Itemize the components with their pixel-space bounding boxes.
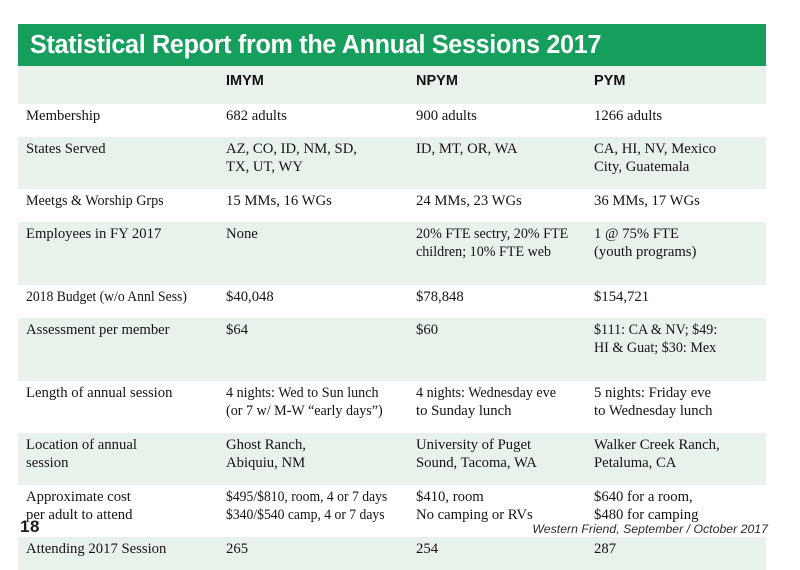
cell-imym: $40,048 [218, 285, 408, 318]
row-label: Approximate cost per adult to attend [18, 485, 218, 537]
row-label: Membership [18, 104, 218, 137]
row-label: States Served [18, 137, 218, 189]
cell-pym: 1 @ 75% FTE (youth programs) [586, 222, 766, 285]
column-header-npym: NPYM [408, 66, 586, 104]
cell-imym: AZ, CO, ID, NM, SD, TX, UT, WY [218, 137, 408, 189]
cell-imym: $495/$810, room, 4 or 7 days $340/$540 c… [218, 485, 408, 537]
column-header-blank [18, 66, 218, 104]
table-row: Assessment per member $64 $60 $111: CA &… [18, 318, 766, 381]
report-title-banner: Statistical Report from the Annual Sessi… [18, 24, 766, 66]
cell-imym: 682 adults [218, 104, 408, 137]
cell-npym: $60 [408, 318, 586, 381]
page-number: 18 [20, 517, 40, 537]
cell-pym: 1266 adults [586, 104, 766, 137]
table-row: Employees in FY 2017 None 20% FTE sectry… [18, 222, 766, 285]
publication-credit: Western Friend, September / October 2017 [532, 522, 768, 536]
cell-imym: $64 [218, 318, 408, 381]
cell-npym: 20% FTE sectry, 20% FTE children; 10% FT… [408, 222, 586, 285]
cell-npym: 24 MMs, 23 WGs [408, 189, 586, 222]
cell-pym: CA, HI, NV, Mexico City, Guatemala [586, 137, 766, 189]
row-label: Location of annual session [18, 433, 218, 485]
cell-pym: 5 nights: Friday eve to Wednesday lunch [586, 381, 766, 433]
row-label: Employees in FY 2017 [18, 222, 218, 285]
cell-pym: $111: CA & NV; $49: HI & Guat; $30: Mex [586, 318, 766, 381]
row-label: 2018 Budget (w/o Annl Sess) [18, 285, 218, 318]
row-label: Length of annual session [18, 381, 218, 433]
cell-pym: Walker Creek Ranch, Petaluma, CA [586, 433, 766, 485]
cell-imym: None [218, 222, 408, 285]
cell-npym: 4 nights: Wednesday eve to Sunday lunch [408, 381, 586, 433]
page-title: Statistical Report from the Annual Sessi… [30, 31, 601, 60]
row-label: Assessment per member [18, 318, 218, 381]
cell-pym: $154,721 [586, 285, 766, 318]
table-row: Length of annual session 4 nights: Wed t… [18, 381, 766, 433]
table-row: Meetgs & Worship Grps 15 MMs, 16 WGs 24 … [18, 189, 766, 222]
table-row: Membership 682 adults 900 adults 1266 ad… [18, 104, 766, 137]
cell-imym: 15 MMs, 16 WGs [218, 189, 408, 222]
cell-npym: 900 adults [408, 104, 586, 137]
cell-pym: 36 MMs, 17 WGs [586, 189, 766, 222]
cell-npym: ID, MT, OR, WA [408, 137, 586, 189]
table-row: 2018 Budget (w/o Annl Sess) $40,048 $78,… [18, 285, 766, 318]
table-header-row: IMYM NPYM PYM [18, 66, 766, 104]
cell-npym: $78,848 [408, 285, 586, 318]
cell-npym: University of Puget Sound, Tacoma, WA [408, 433, 586, 485]
row-label: Meetgs & Worship Grps [18, 189, 218, 222]
column-header-imym: IMYM [218, 66, 408, 104]
statistics-table: IMYM NPYM PYM Membership 682 adults 900 … [18, 66, 766, 570]
table-row: Location of annual session Ghost Ranch, … [18, 433, 766, 485]
column-header-pym: PYM [586, 66, 766, 104]
page-canvas: Statistical Report from the Annual Sessi… [0, 0, 800, 554]
table-row: States Served AZ, CO, ID, NM, SD, TX, UT… [18, 137, 766, 189]
cell-imym: 4 nights: Wed to Sun lunch (or 7 w/ M-W … [218, 381, 408, 433]
cell-imym: Ghost Ranch, Abiquiu, NM [218, 433, 408, 485]
